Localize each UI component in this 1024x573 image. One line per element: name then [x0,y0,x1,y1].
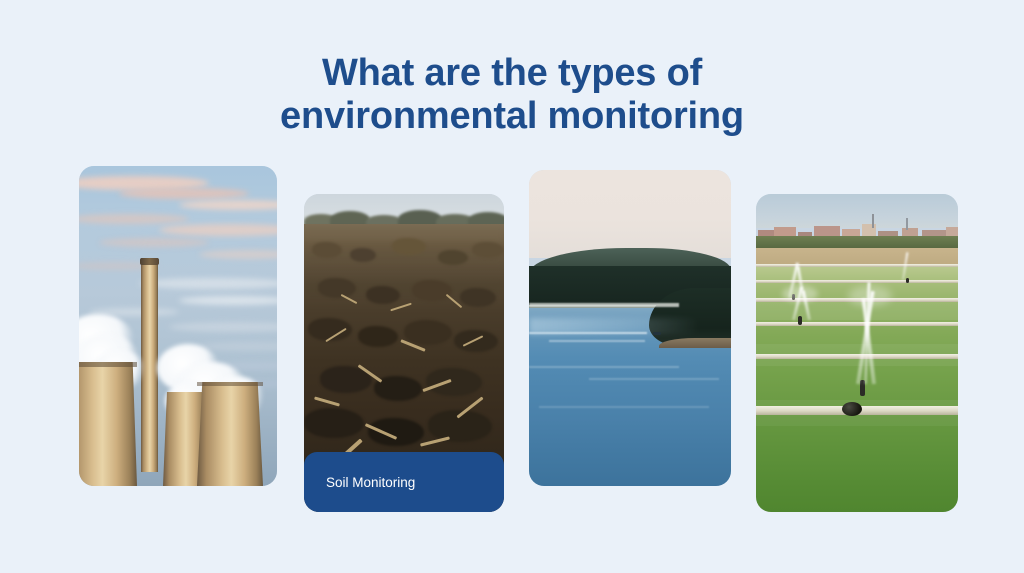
page-title: What are the types of environmental moni… [0,52,1024,138]
card-air-quality-image [79,166,277,486]
card-air-quality[interactable]: Air Quality Monitoring [79,166,277,486]
card-soil-label-text: Soil Monitoring [326,475,415,490]
card-water-image [529,170,731,486]
card-temperature-humidity-image [756,194,958,512]
page-title-line-2: environmental monitoring [0,95,1024,138]
card-soil-label: Soil Monitoring [304,452,504,512]
card-temperature-humidity[interactable]: Temperature and Humidity Monitoring [756,194,958,512]
card-soil[interactable]: Soil Monitoring [304,194,504,512]
page-title-line-1: What are the types of [0,52,1024,95]
slide-canvas: What are the types of environmental moni… [0,0,1024,573]
card-water[interactable]: Water Monitoring [529,170,731,486]
